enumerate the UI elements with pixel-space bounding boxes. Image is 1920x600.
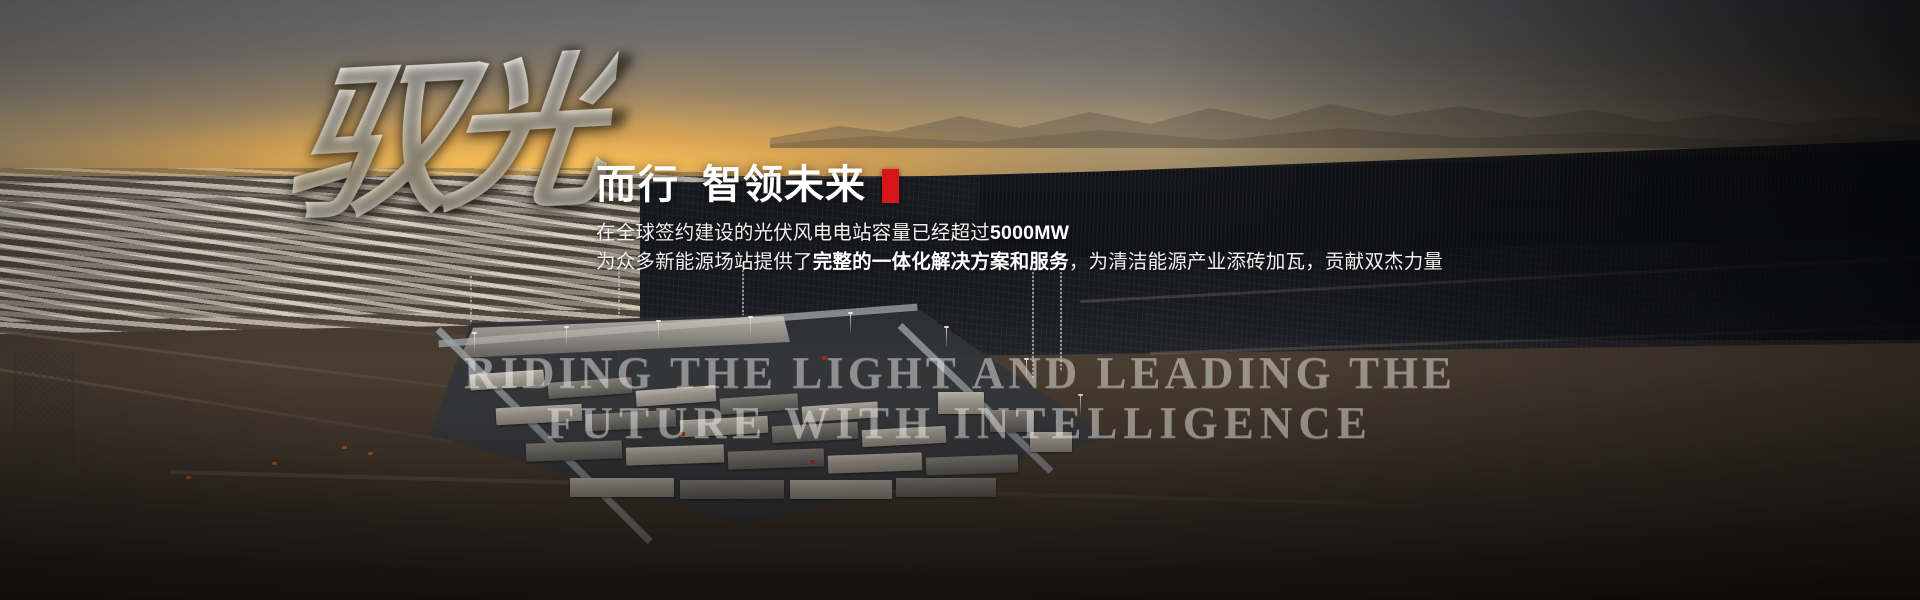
hero-banner: RIDING THE LIGHT AND LEADING THE FUTURE … bbox=[0, 0, 1920, 600]
headline-part-b: 智领未来 bbox=[702, 162, 866, 209]
subtitle-line-2-highlight: 完整的一体化解决方案和服务 bbox=[813, 251, 1069, 273]
subtitle-line-2: 为众多新能源场站提供了完整的一体化解决方案和服务，为清洁能源产业添砖加瓦，贡献双… bbox=[596, 248, 1496, 277]
headline-block: 而行 智领未来 在全球签约建设的光伏风电电站容量已经超过5000MW 为众多新能… bbox=[596, 162, 1496, 277]
subtitle-line-1: 在全球签约建设的光伏风电电站容量已经超过5000MW bbox=[596, 219, 1496, 248]
subtitle-line-2-text-a: 为众多新能源场站提供了 bbox=[596, 251, 813, 273]
red-accent-block bbox=[882, 169, 899, 203]
subtitle-line-1-text: 在全球签约建设的光伏风电电站容量已经超过 bbox=[596, 222, 990, 244]
vignette-overlay bbox=[0, 0, 1920, 600]
subtitle-line-1-capacity: 5000MW bbox=[990, 222, 1069, 244]
page-title: 而行 智领未来 bbox=[596, 162, 1496, 209]
subtitle-line-2-text-b: ，为清洁能源产业添砖加瓦，贡献双杰力量 bbox=[1069, 251, 1443, 273]
subtitle-block: 在全球签约建设的光伏风电电站容量已经超过5000MW 为众多新能源场站提供了完整… bbox=[596, 219, 1496, 277]
headline-part-a: 而行 bbox=[596, 162, 680, 209]
